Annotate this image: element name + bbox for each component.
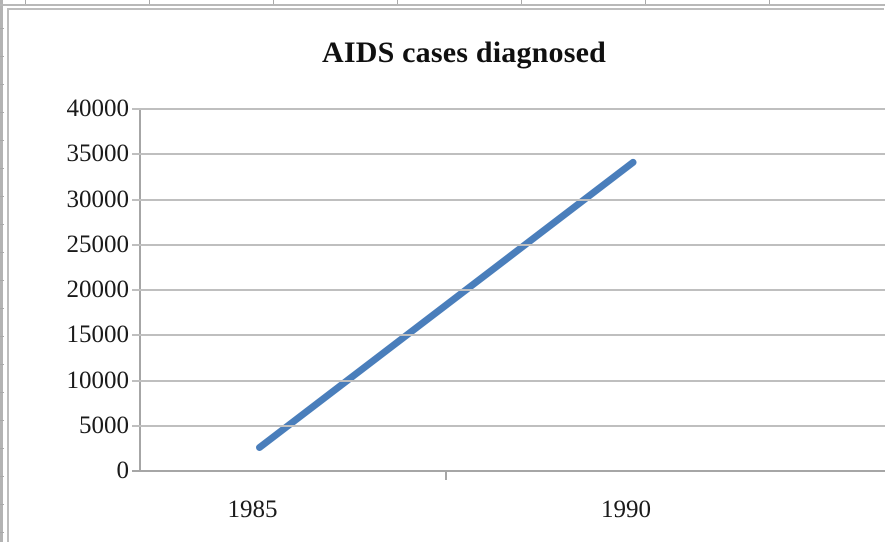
y-axis-tick-label: 15000 (9, 322, 129, 347)
x-axis-tick (445, 471, 447, 480)
y-axis-tick-label: 40000 (9, 96, 129, 121)
ruler-tick (0, 252, 4, 253)
x-axis-tick-label: 1985 (183, 496, 323, 524)
y-axis-tick (132, 289, 140, 291)
ruler-tick (0, 28, 4, 29)
ruler-tick (0, 392, 4, 393)
ruler-tick (0, 196, 4, 197)
y-axis-tick-label: 25000 (9, 232, 129, 257)
horizontal-ruler-ticks (0, 0, 885, 5)
y-axis-tick (132, 380, 140, 382)
ruler-tick (397, 0, 398, 4)
ruler-tick (769, 0, 770, 4)
gridline (140, 425, 885, 427)
vertical-ruler-ticks (0, 0, 4, 542)
ruler-tick (0, 168, 4, 169)
ruler-tick (0, 308, 4, 309)
y-axis-tick (132, 244, 140, 246)
y-axis-tick-labels: 0500010000150002000025000300003500040000 (9, 109, 129, 471)
ruler-tick (645, 0, 646, 4)
y-axis-tick-label: 30000 (9, 187, 129, 212)
y-axis-tick (132, 470, 140, 472)
gridline (140, 334, 885, 336)
y-axis-tick (132, 199, 140, 201)
ruler-tick (0, 420, 4, 421)
x-axis-tick-label: 1990 (556, 496, 696, 524)
y-axis-tick-label: 5000 (9, 413, 129, 438)
gridline (140, 108, 885, 110)
ruler-tick (0, 112, 4, 113)
ruler-tick (0, 336, 4, 337)
ruler-tick (0, 476, 4, 477)
ruler-tick (149, 0, 150, 4)
ruler-tick (0, 224, 4, 225)
gridline (140, 380, 885, 382)
chart-object-frame[interactable]: AIDS cases diagnosed 0500010000150002000… (7, 8, 884, 542)
y-axis-tick (132, 108, 140, 110)
ruler-tick (0, 504, 4, 505)
ruler-tick (0, 280, 4, 281)
y-axis-tick (132, 334, 140, 336)
gridline (140, 244, 885, 246)
ruler-tick (0, 56, 4, 57)
ruler-tick (25, 0, 26, 4)
ruler-tick (0, 364, 4, 365)
gridline (140, 289, 885, 291)
ruler-tick (273, 0, 274, 4)
y-axis-tick-label: 20000 (9, 277, 129, 302)
gridline (140, 199, 885, 201)
y-axis-tick-label: 0 (9, 458, 129, 483)
gridline (140, 153, 885, 155)
series-line[interactable] (260, 162, 634, 447)
chart-screenshot: AIDS cases diagnosed 0500010000150002000… (0, 0, 885, 542)
ruler-tick (0, 448, 4, 449)
y-axis-tick (132, 153, 140, 155)
ruler-tick (0, 140, 4, 141)
y-axis-tick (132, 425, 140, 427)
chart-title: AIDS cases diagnosed (129, 36, 799, 70)
y-axis-tick-label: 35000 (9, 141, 129, 166)
ruler-tick (521, 0, 522, 4)
plot-area (140, 109, 885, 471)
y-axis-tick-label: 10000 (9, 368, 129, 393)
ruler-tick (0, 532, 4, 533)
ruler-tick (0, 84, 4, 85)
